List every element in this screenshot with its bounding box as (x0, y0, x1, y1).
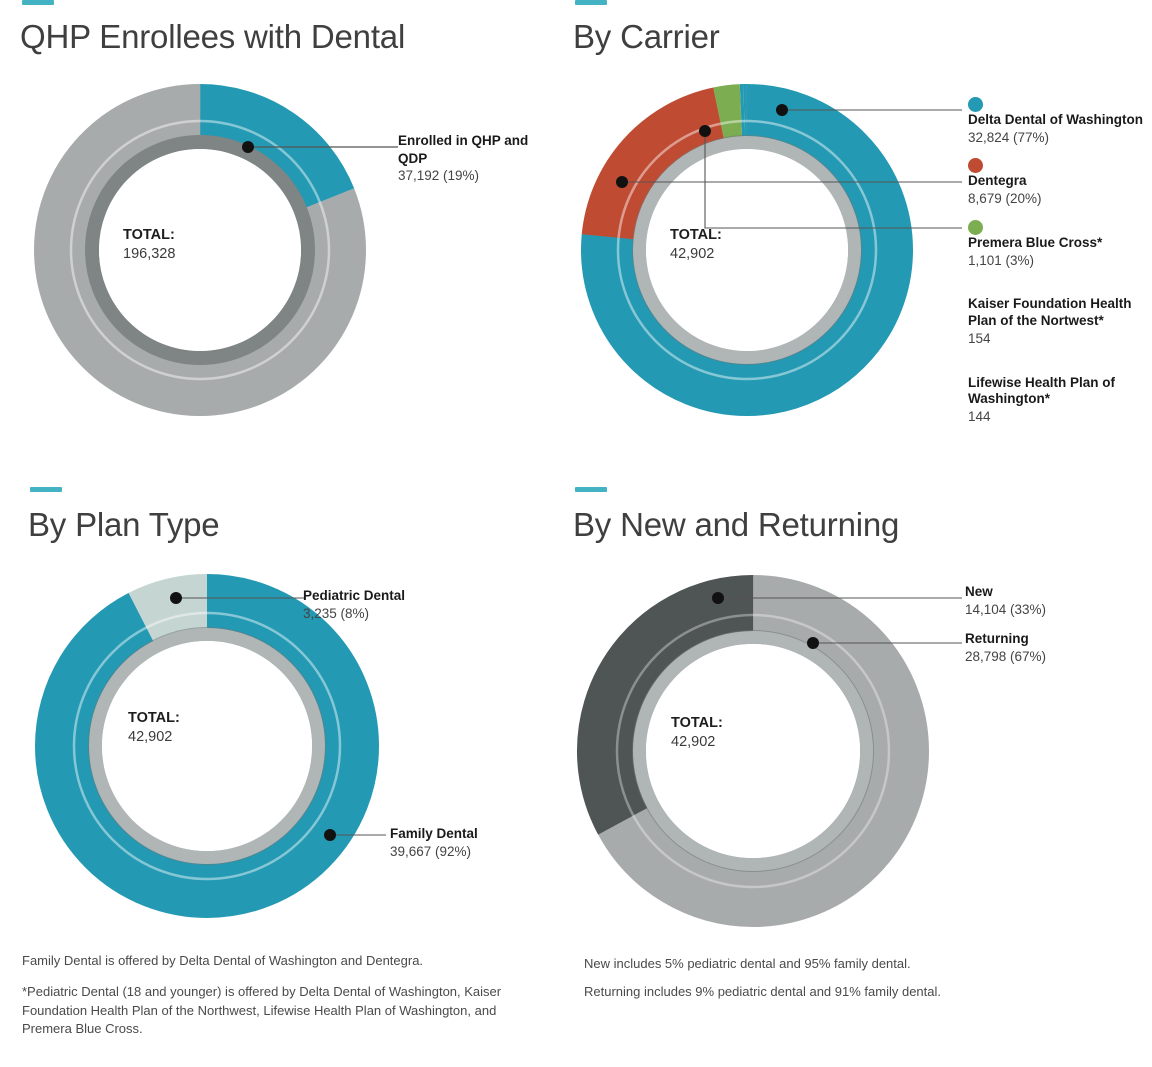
callout-label: Pediatric Dental (303, 587, 503, 605)
footnotes-right: New includes 5% pediatric dental and 95%… (584, 955, 1124, 1012)
page-title-newret: By New and Returning (573, 508, 899, 541)
legend-label: Kaiser Foundation Health Plan of the Nor… (968, 296, 1152, 330)
callout-value: 14,104 (33%) (965, 601, 1135, 619)
accent-bar (30, 487, 62, 492)
donut-svg-newret (573, 571, 933, 931)
callout-new: New 14,104 (33%) (965, 583, 1135, 618)
footnote-family-dental: Family Dental is offered by Delta Dental… (22, 952, 542, 970)
panel-qhp-enrollees: QHP Enrollees with Dental TOTAL: 196,328 (0, 0, 576, 472)
footnotes-left: Family Dental is offered by Delta Dental… (22, 952, 547, 1052)
legend-label: Delta Dental of Washington (968, 112, 1152, 129)
callout-label: New (965, 583, 1135, 601)
footnote-returning: Returning includes 9% pediatric dental a… (584, 983, 1104, 1001)
footnote-new: New includes 5% pediatric dental and 95%… (584, 955, 1104, 973)
panel-by-new-and-returning: By New and Returning TOTAL: 42,902 New (560, 478, 1152, 948)
legend-value: 32,824 (77%) (968, 129, 1152, 147)
dashboard-grid: QHP Enrollees with Dental TOTAL: 196,328 (0, 0, 1152, 1067)
legend-color-swatch-icon (968, 220, 983, 235)
legend-label: Lifewise Health Plan of Washington* (968, 375, 1152, 409)
legend-value: 8,679 (20%) (968, 190, 1152, 208)
donut-hole (646, 644, 860, 858)
page-title-qhp: QHP Enrollees with Dental (20, 20, 405, 53)
footnote-pediatric-dental: *Pediatric Dental (18 and younger) is of… (22, 983, 542, 1038)
accent-bar (575, 487, 607, 492)
donut-chart-qhp: TOTAL: 196,328 (30, 80, 370, 420)
legend-label: Premera Blue Cross* (968, 235, 1152, 252)
callout-value: 3,235 (8%) (303, 605, 503, 623)
callout-enrolled-qhp-qdp: Enrolled in QHP and QDP 37,192 (19%) (398, 132, 548, 185)
legend-item-lifewise[interactable]: Lifewise Health Plan of Washington* 144 (968, 357, 1152, 426)
legend-value: 154 (968, 330, 1152, 348)
accent-bar (22, 0, 54, 5)
legend-item-dentegra[interactable]: Dentegra 8,679 (20%) (968, 155, 1152, 207)
legend-item-delta-dental[interactable]: Delta Dental of Washington 32,824 (77%) (968, 94, 1152, 146)
donut-chart-newret: TOTAL: 42,902 (573, 571, 933, 931)
donut-hole (102, 641, 312, 851)
callout-pediatric-dental: Pediatric Dental 3,235 (8%) (303, 587, 503, 622)
legend-label: Dentegra (968, 173, 1152, 190)
page-title-plantype: By Plan Type (28, 508, 219, 541)
donut-chart-carrier: TOTAL: 42,902 (577, 80, 917, 420)
callout-returning: Returning 28,798 (67%) (965, 630, 1135, 665)
legend-item-kaiser[interactable]: Kaiser Foundation Health Plan of the Nor… (968, 278, 1152, 347)
callout-label: Enrolled in QHP and QDP (398, 132, 548, 167)
donut-chart-plantype: TOTAL: 42,902 (32, 571, 382, 921)
legend-value: 1,101 (3%) (968, 252, 1152, 270)
donut-svg-plantype (32, 571, 382, 921)
callout-label: Returning (965, 630, 1135, 648)
donut-svg-carrier (577, 80, 917, 420)
panel-by-plan-type: By Plan Type TOTAL: 42,902 Pediatric Den… (0, 478, 576, 948)
donut-svg-qhp (30, 80, 370, 420)
donut-hole (99, 149, 301, 351)
legend-color-swatch-icon (968, 97, 983, 112)
accent-bar (575, 0, 607, 5)
legend-item-premera[interactable]: Premera Blue Cross* 1,101 (3%) (968, 217, 1152, 269)
callout-value: 37,192 (19%) (398, 167, 548, 185)
page-title-carrier: By Carrier (573, 20, 720, 53)
callout-value: 28,798 (67%) (965, 648, 1135, 666)
panel-by-carrier: By Carrier TOTAL: 42,902 (560, 0, 1152, 472)
legend-carrier: Delta Dental of Washington 32,824 (77%) … (968, 94, 1152, 435)
legend-color-swatch-icon (968, 158, 983, 173)
donut-hole (646, 149, 848, 351)
legend-value: 144 (968, 408, 1152, 426)
